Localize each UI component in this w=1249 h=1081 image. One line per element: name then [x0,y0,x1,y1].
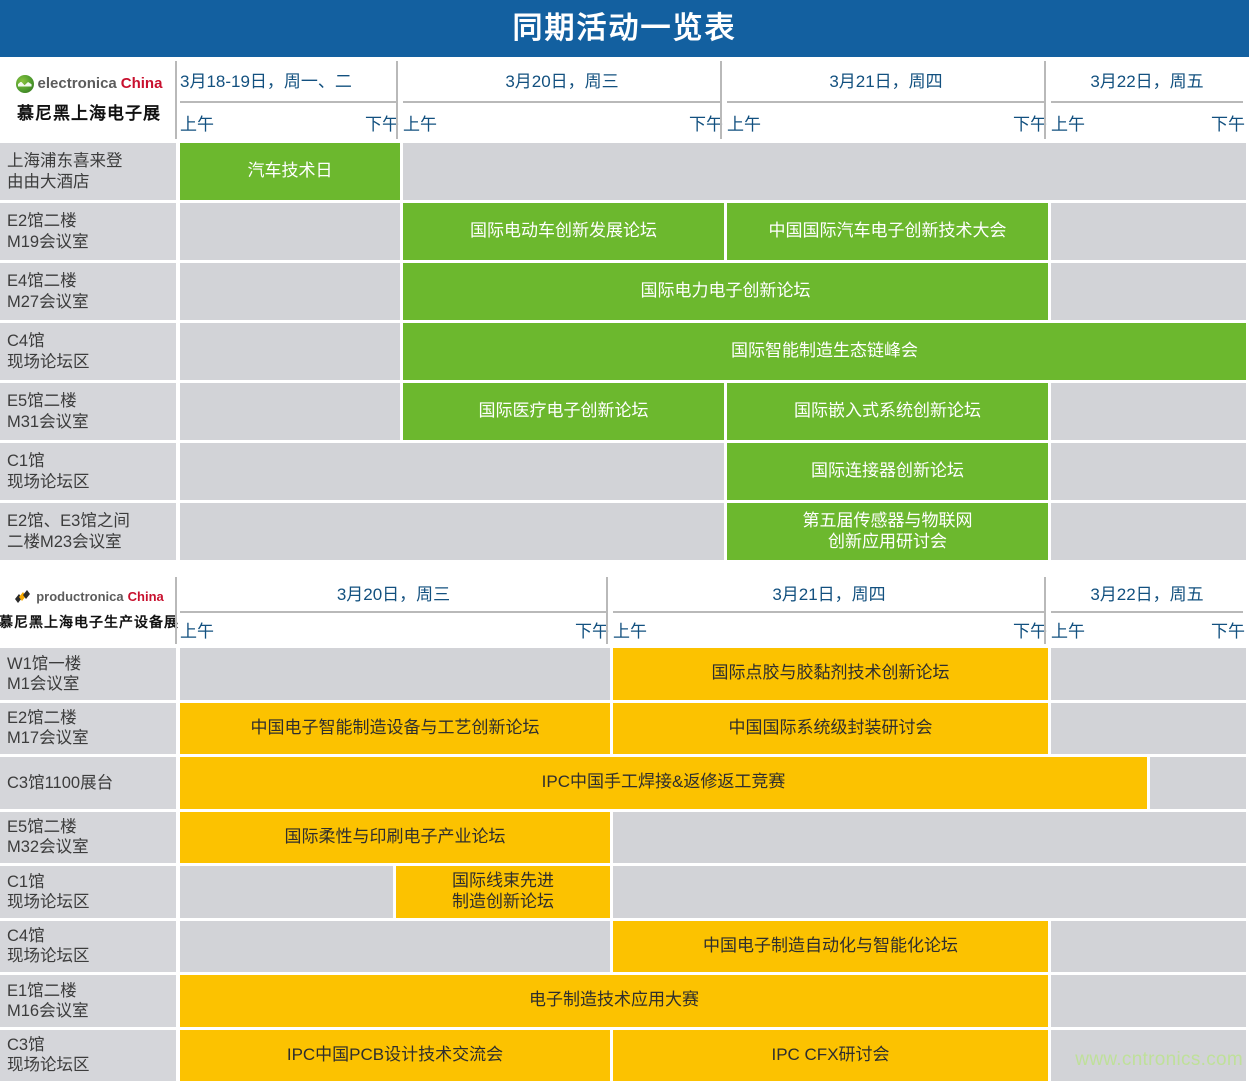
event-cell[interactable]: 国际柔性与印刷电子产业论坛 [180,812,610,864]
column-divider [175,577,177,644]
label-morning: 上午 [727,103,885,141]
label-morning: 上午 [180,103,286,141]
electronica-logo-cn: 慕尼黑上海电子展 [17,99,161,124]
venue-line: M19会议室 [7,232,176,252]
venue-line: 现场论坛区 [7,1055,176,1075]
venue-line: M32会议室 [7,837,176,857]
venue-line: 现场论坛区 [7,472,176,492]
event-cell[interactable]: 国际点胶与胶黏剂技术创新论坛 [613,648,1048,700]
event-cell[interactable]: 中国国际系统级封装研讨会 [613,703,1048,755]
label-morning: 上午 [180,613,392,646]
empty-slot [180,263,400,320]
venue-line: C4馆 [7,331,176,351]
venue-line: M27会议室 [7,292,176,312]
productronica-logo-cn: 慕尼黑上海电子生产设备展 [0,612,179,632]
empty-slot [403,143,1246,200]
event-title-line: 国际医疗电子创新论坛 [479,401,649,422]
column-divider [1044,577,1046,644]
event-title-line: 国际点胶与胶黏剂技术创新论坛 [712,663,950,684]
venue-line: 现场论坛区 [7,946,176,966]
event-cell[interactable]: 中国电子制造自动化与智能化论坛 [613,921,1048,973]
event-cell[interactable]: 第五届传感器与物联网创新应用研讨会 [727,503,1048,560]
venue-cell: E2馆二楼M17会议室 [0,703,176,755]
date-header: 3月20日，周三 [403,57,721,103]
event-title-line: 国际电动车创新发展论坛 [470,221,657,242]
event-title-line: IPC中国PCB设计技术交流会 [287,1045,503,1066]
electronica-wordmark: electronica [38,75,117,92]
venue-line: C3馆1100展台 [7,773,176,793]
event-cell[interactable]: 国际电动车创新发展论坛 [403,203,724,260]
event-cell[interactable]: 国际线束先进制造创新论坛 [396,866,610,918]
empty-slot [180,443,724,500]
productronica-logo-lockup: productronica China [14,588,164,606]
event-title-line: 制造创新论坛 [452,892,554,913]
label-afternoon: 下午 [1150,613,1245,646]
venue-cell: E5馆二楼M32会议室 [0,812,176,864]
event-cell[interactable]: 国际电力电子创新论坛 [403,263,1048,320]
venue-cell: C1馆现场论坛区 [0,443,176,500]
event-title-line: 第五届传感器与物联网 [803,511,973,532]
label-morning: 上午 [403,103,561,141]
venue-cell: C4馆现场论坛区 [0,921,176,973]
date-header: 3月18-19日，周一、二 [180,57,397,103]
date-header: 3月20日，周三 [180,573,607,613]
productronica-china-wordmark: China [128,589,164,604]
column-divider [720,61,722,139]
date-header: 3月21日，周四 [613,573,1045,613]
venue-line: E5馆二楼 [7,817,176,837]
empty-slot [1051,648,1246,700]
venue-line: E5馆二楼 [7,391,176,411]
event-cell[interactable]: 汽车技术日 [180,143,400,200]
empty-slot [180,866,393,918]
event-cell[interactable]: 国际智能制造生态链峰会 [403,323,1246,380]
venue-line: C4馆 [7,926,176,946]
event-cell[interactable]: 中国国际汽车电子创新技术大会 [727,203,1048,260]
empty-slot [1051,921,1246,973]
event-title-line: 国际智能制造生态链峰会 [731,341,918,362]
venue-line: E1馆二楼 [7,981,176,1001]
venue-cell: E5馆二楼M31会议室 [0,383,176,440]
label-morning: 上午 [1051,103,1146,141]
venue-line: 现场论坛区 [7,352,176,372]
venue-line: M1会议室 [7,674,176,694]
event-title-line: 中国电子智能制造设备与工艺创新论坛 [251,718,540,739]
event-title-line: 创新应用研讨会 [828,532,947,553]
productronica-logo: productronica China 慕尼黑上海电子生产设备展 [0,573,178,646]
empty-slot [180,921,610,973]
event-cell[interactable]: IPC中国PCB设计技术交流会 [180,1030,610,1081]
empty-slot [180,203,400,260]
venue-line: E2馆二楼 [7,708,176,728]
event-cell[interactable]: 电子制造技术应用大赛 [180,975,1048,1027]
venue-cell: E2馆二楼M19会议室 [0,203,176,260]
empty-slot [1051,203,1246,260]
venue-line: C1馆 [7,451,176,471]
venue-cell: E1馆二楼M16会议室 [0,975,176,1027]
empty-slot [180,503,724,560]
event-cell[interactable]: 国际医疗电子创新论坛 [403,383,724,440]
venue-cell: W1馆一楼M1会议室 [0,648,176,700]
venue-line: 现场论坛区 [7,892,176,912]
venue-cell: E4馆二楼M27会议室 [0,263,176,320]
productronica-wordmark: productronica [36,589,123,604]
date-header: 3月22日，周五 [1051,573,1243,613]
venue-line: M31会议室 [7,412,176,432]
event-title-line: 中国国际汽车电子创新技术大会 [769,221,1007,242]
venue-line: 二楼M23会议室 [7,532,176,552]
electronica-china-wordmark: China [121,75,163,92]
venue-line: W1馆一楼 [7,654,176,674]
venue-line: C3馆 [7,1035,176,1055]
column-divider [396,61,398,139]
venue-cell: 上海浦东喜来登由由大酒店 [0,143,176,200]
event-title-line: 国际嵌入式系统创新论坛 [794,401,981,422]
productronica-logo-icon [14,588,32,606]
event-title-line: 国际柔性与印刷电子产业论坛 [285,827,506,848]
page-title-bar: 同期活动一览表 [0,0,1249,57]
column-divider [606,577,608,644]
label-afternoon: 下午 [1150,103,1245,141]
empty-slot [1051,263,1246,320]
date-header: 3月22日，周五 [1051,57,1243,103]
watermark: www.cntronics.com [1075,1049,1243,1071]
event-title-line: 中国国际系统级封装研讨会 [729,718,933,739]
venue-line: 上海浦东喜来登 [7,151,176,171]
venue-line: E2馆、E3馆之间 [7,511,176,531]
empty-slot [180,383,400,440]
event-cell[interactable]: 国际连接器创新论坛 [727,443,1048,500]
venue-cell: C3馆1100展台 [0,757,176,809]
empty-slot [1051,383,1246,440]
venue-line: 由由大酒店 [7,172,176,192]
column-divider [1044,61,1046,139]
venue-cell: E2馆、E3馆之间二楼M23会议室 [0,503,176,560]
column-divider [175,61,177,139]
venue-line: E4馆二楼 [7,271,176,291]
empty-slot [613,866,1246,918]
event-title-line: 汽车技术日 [248,161,333,182]
event-title-line: 中国电子制造自动化与智能化论坛 [703,936,958,957]
electronica-logo: electronica China 慕尼黑上海电子展 [0,57,178,141]
label-morning: 上午 [1051,613,1146,646]
event-title-line: 电子制造技术应用大赛 [529,990,699,1011]
venue-line: E2馆二楼 [7,211,176,231]
event-cell[interactable]: IPC中国手工焊接&返修返工竞赛 [180,757,1147,809]
label-afternoon: 下午 [833,613,1047,646]
label-afternoon: 下午 [290,103,399,141]
venue-cell: C3馆现场论坛区 [0,1030,176,1081]
label-afternoon: 下午 [889,103,1047,141]
venue-line: C1馆 [7,872,176,892]
label-afternoon: 下午 [565,103,723,141]
event-title-line: IPC中国手工焊接&返修返工竞赛 [542,772,786,793]
event-cell[interactable]: 国际嵌入式系统创新论坛 [727,383,1048,440]
venue-cell: C1馆现场论坛区 [0,866,176,918]
label-morning: 上午 [613,613,829,646]
event-schedule-page: 同期活动一览表 electronica China 慕尼黑上海电子展 3月18-… [0,0,1249,1079]
venue-line: M16会议室 [7,1001,176,1021]
event-cell[interactable]: 中国电子智能制造设备与工艺创新论坛 [180,703,610,755]
empty-slot [1051,975,1246,1027]
empty-slot [1051,703,1246,755]
venue-cell: C4馆现场论坛区 [0,323,176,380]
empty-slot [180,648,610,700]
venue-line: M17会议室 [7,728,176,748]
event-cell[interactable]: IPC CFX研讨会 [613,1030,1048,1081]
empty-slot [1150,757,1246,809]
page-title: 同期活动一览表 [513,14,737,44]
electronica-logo-icon [16,75,34,93]
event-title-line: 国际连接器创新论坛 [811,461,964,482]
empty-slot [180,323,400,380]
empty-slot [613,812,1246,864]
event-title-line: IPC CFX研讨会 [771,1045,889,1066]
empty-slot [1051,503,1246,560]
electronica-logo-lockup: electronica China [16,75,163,93]
label-afternoon: 下午 [396,613,609,646]
event-title-line: 国际电力电子创新论坛 [641,281,811,302]
event-title-line: 国际线束先进 [452,871,554,892]
date-header: 3月21日，周四 [727,57,1045,103]
empty-slot [1051,443,1246,500]
